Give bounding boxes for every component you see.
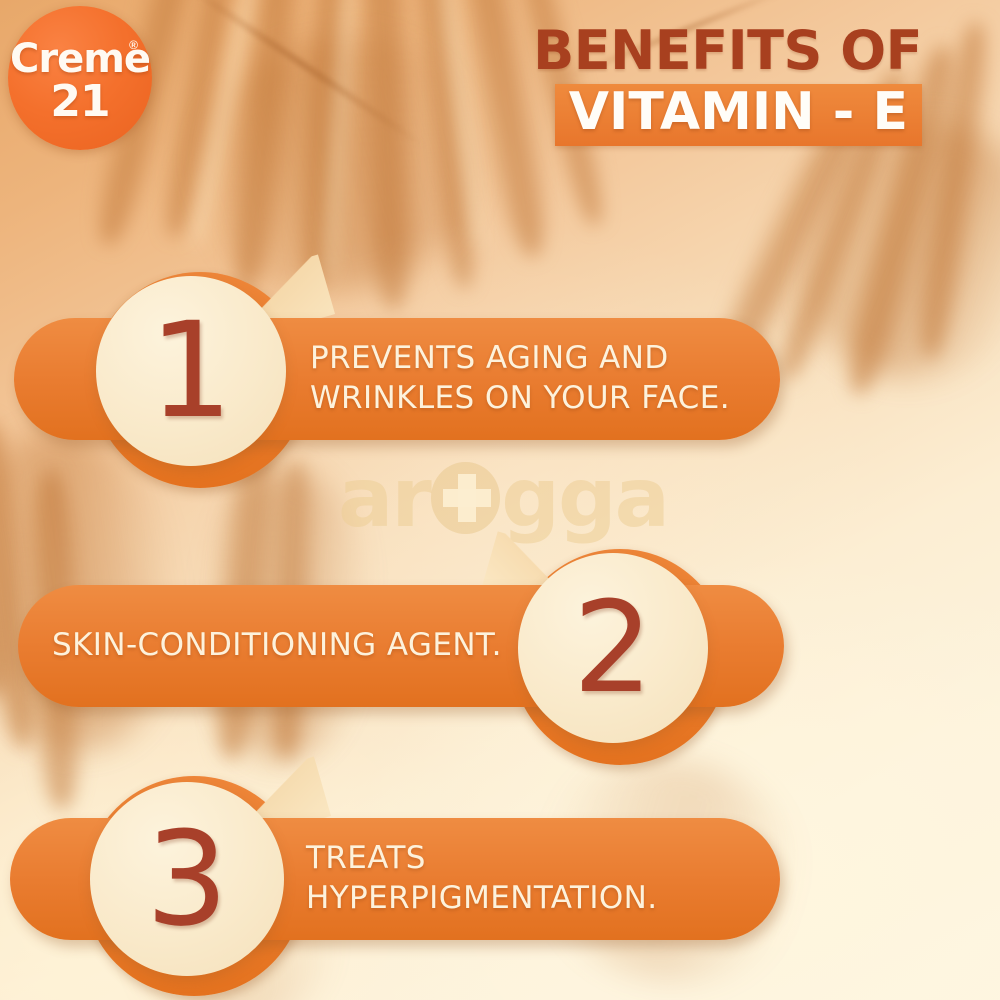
benefit-number-1: 1 [149, 305, 233, 437]
logo-line-2: 21 [8, 76, 152, 127]
benefit-text-1: PREVENTS AGING AND WRINKLES ON YOUR FACE… [310, 339, 730, 418]
benefit-row-2[interactable]: SKIN-CONDITIONING AGENT. 2 [0, 545, 1000, 765]
benefit-circle-2[interactable]: 2 [518, 553, 708, 743]
benefit-text-3: TREATS HYPERPIGMENTATION. [306, 839, 780, 918]
title-highlight-bar: VITAMIN - E [555, 84, 922, 146]
benefit-number-2: 2 [573, 585, 653, 711]
benefit-circle-1[interactable]: 1 [96, 276, 286, 466]
registered-trademark-icon: ® [129, 38, 138, 52]
page-title: BENEFITS OF VITAMIN - E [533, 22, 922, 146]
title-line-vitamin-e: VITAMIN - E [569, 86, 908, 139]
benefit-row-1[interactable]: PREVENTS AGING AND WRINKLES ON YOUR FACE… [0, 270, 1000, 490]
creme21-logo[interactable]: Creme ® 21 [8, 6, 152, 150]
benefit-number-3: 3 [146, 814, 229, 944]
benefit-row-3[interactable]: TREATS HYPERPIGMENTATION. 3 [0, 772, 1000, 998]
title-line-benefits-of: BENEFITS OF [533, 22, 922, 79]
benefit-circle-3[interactable]: 3 [90, 782, 284, 976]
infographic-poster: Creme ® 21 BENEFITS OF VITAMIN - E ar gg… [0, 0, 1000, 1000]
benefit-text-2: SKIN-CONDITIONING AGENT. [52, 626, 502, 666]
